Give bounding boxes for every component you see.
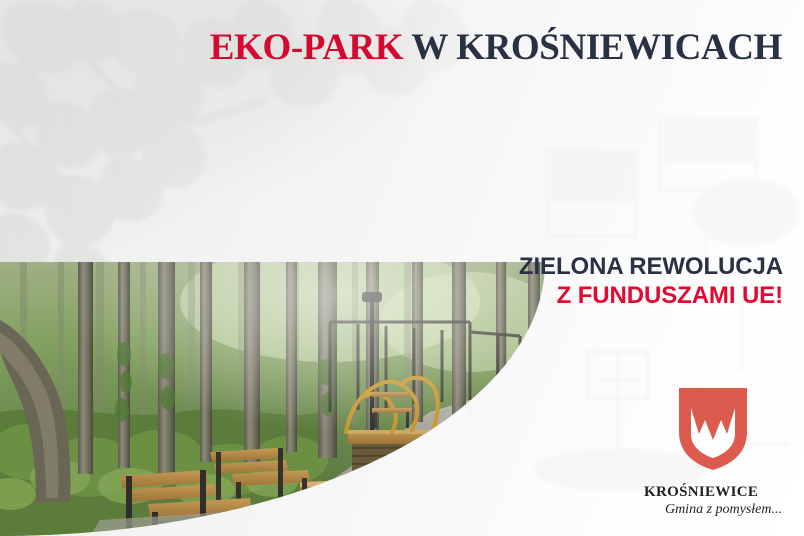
poster: EKO-PARK W KROŚNIEWICACH ZIELONA REWOLUC… bbox=[0, 0, 804, 536]
headline-eko-park: EKO-PARK bbox=[210, 27, 403, 68]
eko-park-forest-path-photo bbox=[0, 262, 552, 536]
krosniewice-logo: KROŚNIEWICE Gmina z pomysłem... bbox=[642, 386, 784, 518]
subtitle-line-2: Z FUNDUSZAMI UE! bbox=[519, 281, 783, 310]
photo-container bbox=[0, 262, 552, 536]
poster-subtitle: ZIELONA REWOLUCJA Z FUNDUSZAMI UE! bbox=[519, 252, 783, 311]
logo-municipality-name: KROŚNIEWICE bbox=[642, 484, 784, 501]
subtitle-line-1: ZIELONA REWOLUCJA bbox=[519, 252, 783, 281]
headline-location: W KROŚNIEWICACH bbox=[403, 27, 782, 68]
krosniewice-coat-of-arms-shield-icon bbox=[642, 386, 784, 477]
logo-tagline: Gmina z pomysłem... bbox=[642, 502, 784, 518]
poster-headline: EKO-PARK W KROŚNIEWICACH bbox=[0, 28, 782, 67]
